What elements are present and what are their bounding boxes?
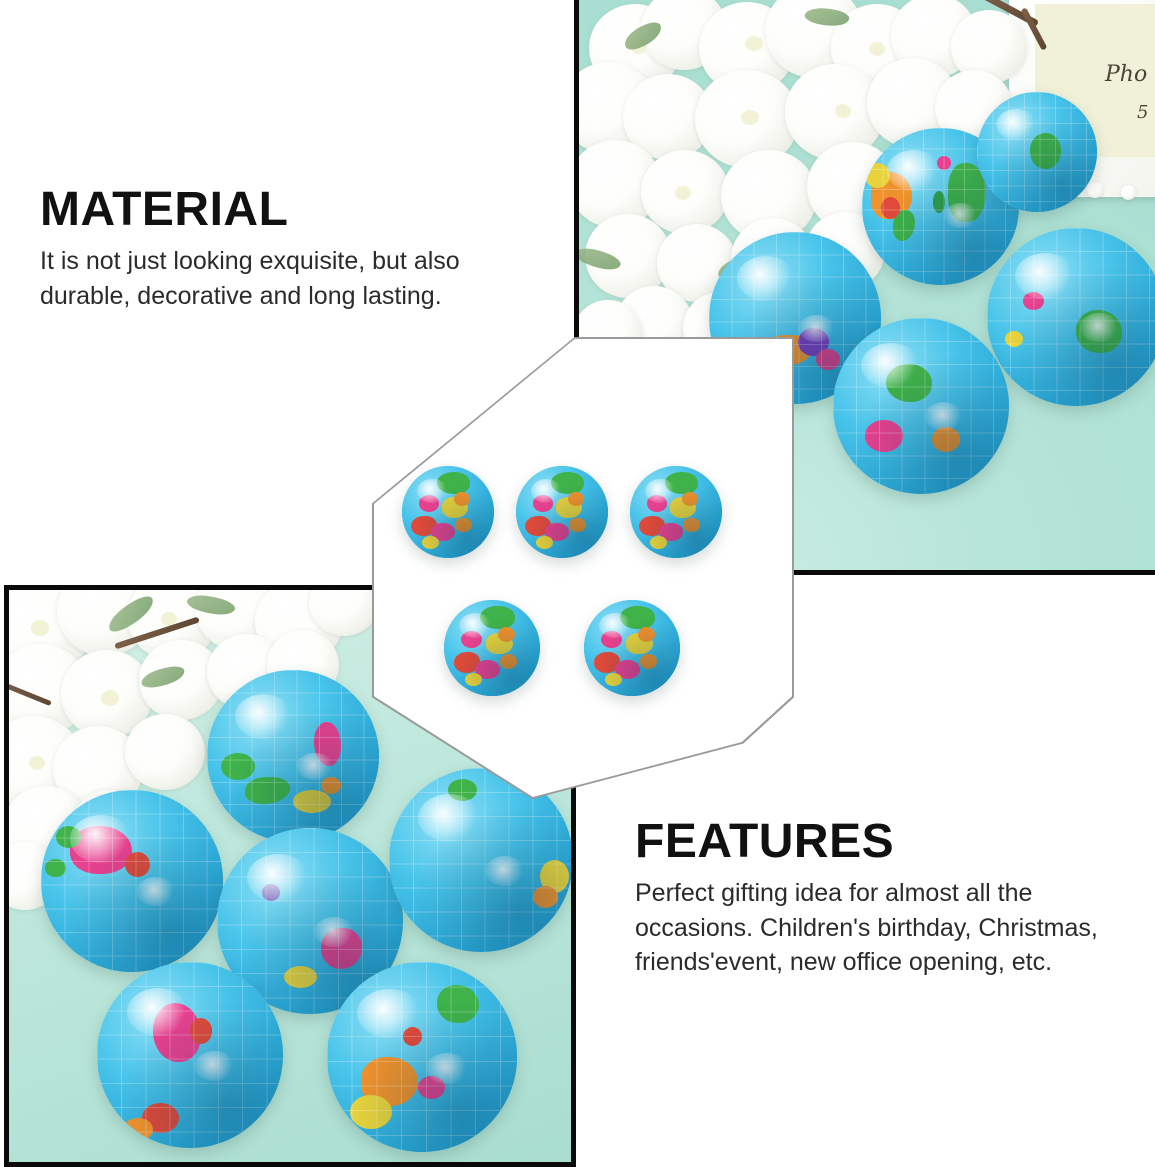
octagon-inset: [374, 339, 792, 797]
globe-ball: [977, 92, 1097, 212]
globe-ball: [327, 962, 517, 1152]
material-section: MATERIAL It is not just looking exquisit…: [40, 186, 510, 313]
globe-ball: [207, 670, 379, 842]
inset-globe-ball: [516, 466, 608, 558]
inset-globe-ball: [444, 600, 540, 696]
globe-ball: [987, 228, 1155, 406]
features-section: FEATURES Perfect gifting idea for almost…: [635, 818, 1105, 980]
globe-ball: [41, 790, 223, 972]
globe-ball: [833, 318, 1009, 494]
inset-globe-ball: [630, 466, 722, 558]
frame-script-number: 5: [1137, 102, 1148, 123]
frame-script-text: Pho: [1105, 62, 1147, 87]
globe-ball: [97, 962, 283, 1148]
features-body: Perfect gifting idea for almost all the …: [635, 876, 1105, 980]
infographic-canvas: Pho 5: [0, 0, 1155, 1162]
inset-globe-ball: [402, 466, 494, 558]
material-body: It is not just looking exquisite, but al…: [40, 244, 510, 313]
material-heading: MATERIAL: [40, 186, 510, 234]
frame-rosette-icon: [1121, 185, 1136, 200]
inset-globe-ball: [584, 600, 680, 696]
features-heading: FEATURES: [635, 818, 1105, 866]
